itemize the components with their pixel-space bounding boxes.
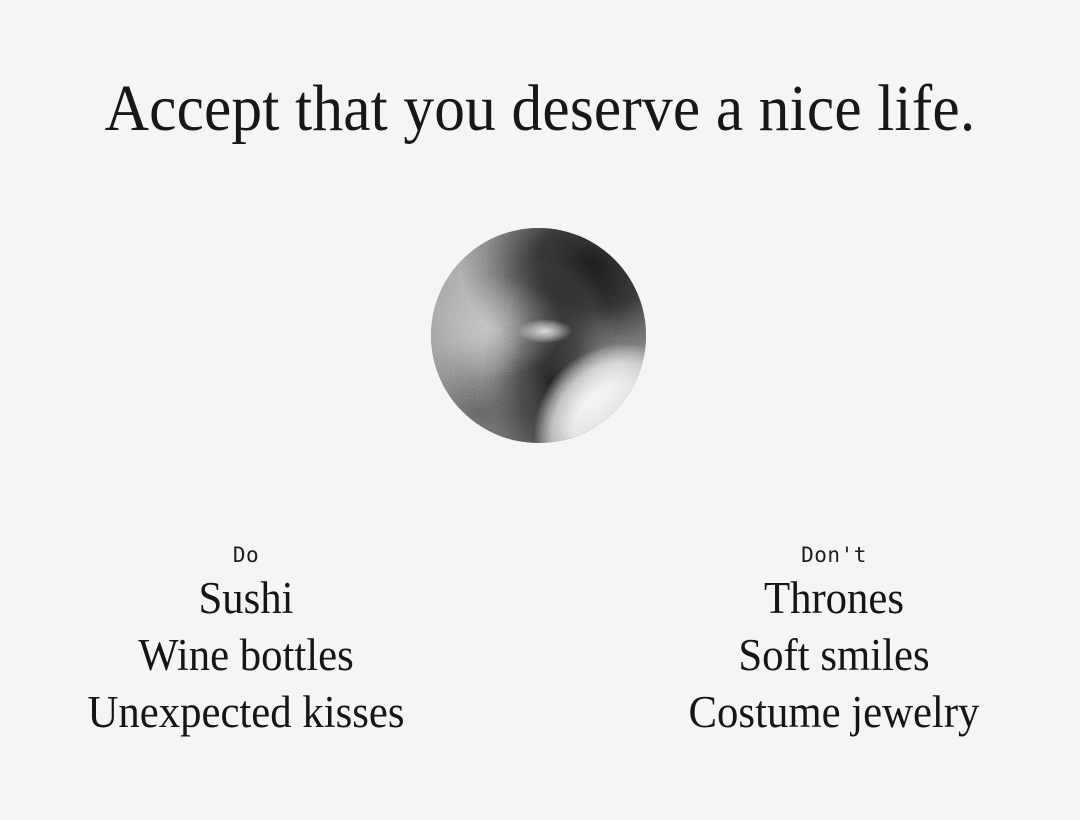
list-item: Thrones [578, 570, 1080, 627]
list-dont: Thrones Soft smiles Costume jewelry [564, 570, 1080, 741]
column-do: Do Sushi Wine bottles Unexpected kisses [0, 540, 516, 741]
list-do: Sushi Wine bottles Unexpected kisses [0, 570, 516, 741]
do-dont-columns: Do Sushi Wine bottles Unexpected kisses … [0, 540, 1080, 741]
list-item: Soft smiles [578, 627, 1080, 684]
list-item: Wine bottles [0, 627, 503, 684]
circular-photo [431, 228, 646, 443]
list-item: Unexpected kisses [0, 684, 503, 741]
column-heading-do: Do [0, 540, 516, 570]
list-item: Costume jewelry [578, 684, 1080, 741]
list-item: Sushi [0, 570, 503, 627]
column-heading-dont: Don't [564, 540, 1080, 570]
photo-vignette [431, 228, 646, 443]
page-title: Accept that you deserve a nice life. [38, 76, 1042, 142]
poster-canvas: Accept that you deserve a nice life. Do … [0, 0, 1080, 820]
column-dont: Don't Thrones Soft smiles Costume jewelr… [564, 540, 1080, 741]
